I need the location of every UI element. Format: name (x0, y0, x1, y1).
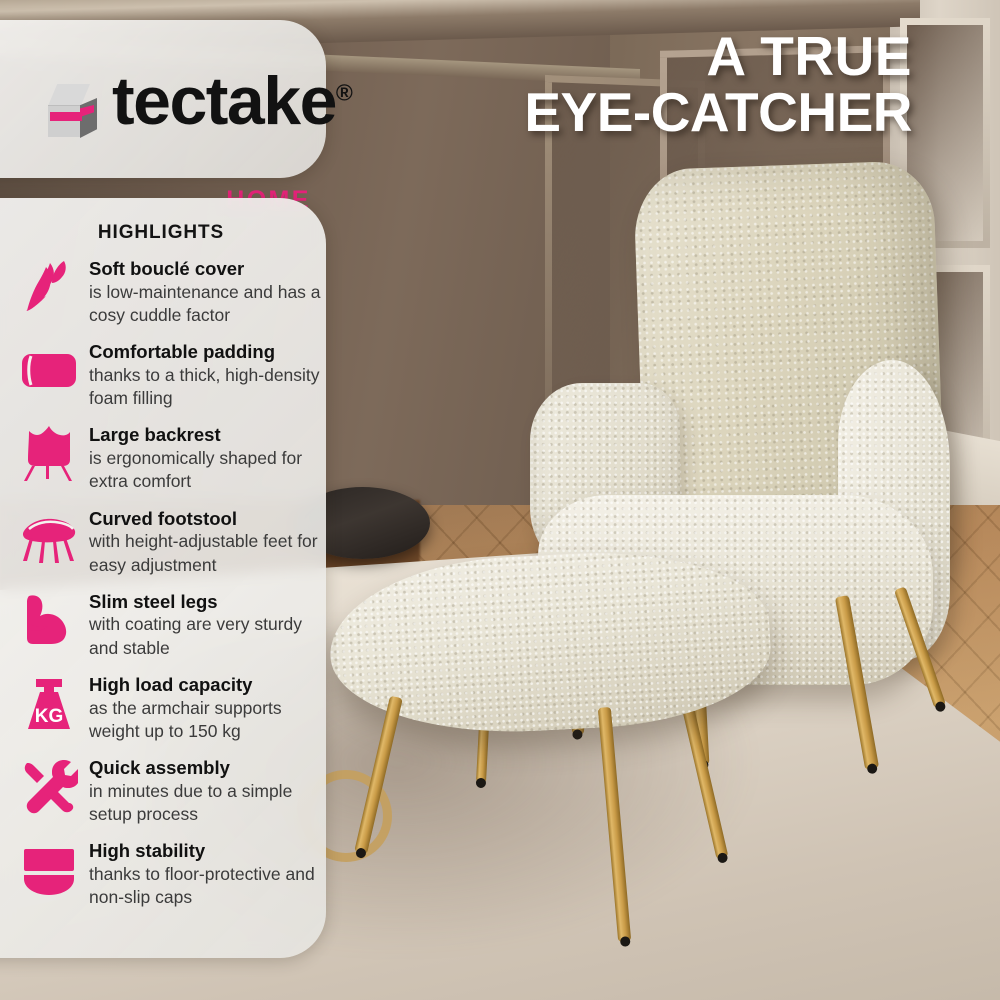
footstool-product-image (330, 555, 800, 955)
highlights-title: HIGHLIGHTS (0, 222, 322, 244)
list-item: Quick assembly in minutes due to a simpl… (0, 754, 330, 837)
list-item-text: High stability thanks to floor-protectiv… (89, 837, 322, 909)
list-item: KG High load capacity as the armchair su… (0, 671, 330, 754)
feathers-icon (20, 255, 76, 317)
product-infographic: A TRUE EYE-CATCHER tectake® HOME HIGHLIG… (0, 0, 1000, 1000)
list-item-title: Quick assembly (89, 756, 322, 780)
list-item: Soft bouclé cover is low-maintenance and… (0, 255, 330, 338)
flexed-bicep-icon (20, 588, 76, 650)
list-item-title: Large backrest (89, 423, 322, 447)
list-item-text: Soft bouclé cover is low-maintenance and… (89, 255, 322, 327)
list-item-title: Soft bouclé cover (89, 257, 322, 281)
stool-leg (680, 696, 729, 859)
list-item: Large backrest is ergonomically shaped f… (0, 421, 330, 504)
list-item-desc: thanks to floor-protective and non-slip … (89, 863, 322, 910)
list-item-desc: is ergonomically shaped for extra comfor… (89, 447, 322, 494)
list-item-desc: with height-adjustable feet for easy adj… (89, 530, 322, 577)
list-item-title: Slim steel legs (89, 590, 322, 614)
brand-wordmark: tectake® HOME (112, 72, 353, 130)
list-item-desc: is low-maintenance and has a cosy cuddle… (89, 281, 322, 328)
list-item: High stability thanks to floor-protectiv… (0, 837, 330, 920)
cube-side-face (80, 98, 97, 138)
wrench-screwdriver-icon (20, 754, 76, 816)
list-item-desc: as the armchair supports weight up to 15… (89, 697, 322, 744)
floor-cap-icon (20, 837, 76, 899)
stool-leg (354, 696, 403, 855)
list-item-text: Curved footstool with height-adjustable … (89, 505, 322, 577)
headline-line-1: A TRUE (524, 28, 912, 84)
stool-leg (598, 707, 631, 942)
list-item-text: High load capacity as the armchair suppo… (89, 671, 322, 743)
armchair-icon (20, 421, 76, 483)
footstool-icon (20, 505, 76, 567)
tectake-cube-logo-icon (44, 84, 102, 140)
brand-wordmark-text: tectake (112, 63, 336, 139)
list-item-desc: thanks to a thick, high-density foam fil… (89, 364, 322, 411)
list-item-desc: in minutes due to a simple setup process (89, 780, 322, 827)
list-item-text: Comfortable padding thanks to a thick, h… (89, 338, 322, 410)
list-item: Slim steel legs with coating are very st… (0, 588, 330, 671)
kg-weight-icon: KG (20, 671, 76, 733)
cube-front-face (48, 105, 81, 137)
cube-accent-stripe (50, 112, 82, 121)
list-item-desc: with coating are very sturdy and stable (89, 613, 322, 660)
list-item: Curved footstool with height-adjustable … (0, 505, 330, 588)
headline: A TRUE EYE-CATCHER (524, 28, 912, 140)
list-item-title: Curved footstool (89, 507, 322, 531)
cushion-icon (20, 338, 76, 400)
kg-icon-label: KG (35, 706, 64, 727)
list-item: Comfortable padding thanks to a thick, h… (0, 338, 330, 421)
list-item-text: Slim steel legs with coating are very st… (89, 588, 322, 660)
list-item-title: High stability (89, 839, 322, 863)
cube-top-face (48, 84, 90, 106)
list-item-title: High load capacity (89, 673, 322, 697)
headline-line-2: EYE-CATCHER (524, 84, 912, 140)
registered-trademark-symbol: ® (336, 79, 353, 105)
list-item-text: Quick assembly in minutes due to a simpl… (89, 754, 322, 826)
highlights-list: Soft bouclé cover is low-maintenance and… (0, 255, 330, 921)
list-item-title: Comfortable padding (89, 340, 322, 364)
list-item-text: Large backrest is ergonomically shaped f… (89, 421, 322, 493)
brand-logo: tectake® HOME (44, 72, 353, 140)
